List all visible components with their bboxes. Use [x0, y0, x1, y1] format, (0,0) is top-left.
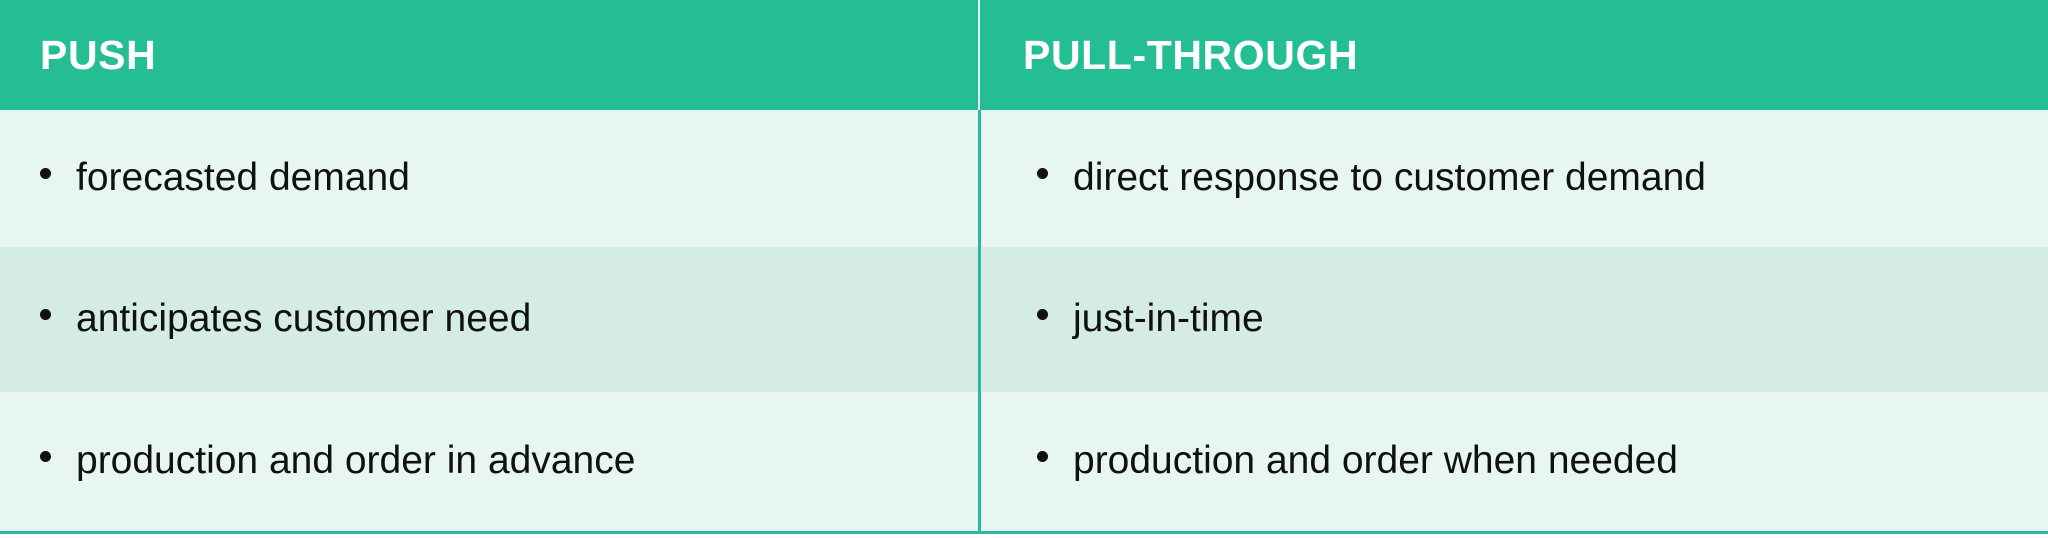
- comparison-table-container: PUSH PULL-THROUGH forecasted demand: [0, 0, 2048, 538]
- bullet-item: production and order in advance: [40, 439, 957, 484]
- cell-push-item-2: anticipates customer need: [0, 247, 977, 392]
- bullet-item-label: production and order in advance: [76, 439, 635, 484]
- cell-push-item-1: forecasted demand: [0, 110, 977, 247]
- bullet-item: anticipates customer need: [40, 297, 957, 342]
- row-column-divider: [977, 392, 981, 531]
- bullet-item-label: anticipates customer need: [76, 297, 531, 342]
- bullet-point-icon: [1037, 168, 1048, 179]
- table-row: production and order in advance producti…: [0, 392, 2048, 531]
- header-column-divider: [977, 0, 981, 110]
- bullet-item-label: forecasted demand: [76, 156, 410, 201]
- bullet-point-icon: [40, 451, 51, 462]
- header-divider-rule: [978, 0, 980, 110]
- row-column-divider: [977, 110, 981, 247]
- cell-pull-through-item-1: direct response to customer demand: [981, 110, 2048, 247]
- column-header-pull-through: PULL-THROUGH: [981, 0, 2048, 110]
- column-header-push: PUSH: [0, 0, 977, 110]
- divider-rule: [978, 110, 981, 247]
- row-column-divider: [977, 247, 981, 392]
- bullet-point-icon: [40, 309, 51, 320]
- bullet-point-icon: [1037, 451, 1048, 462]
- bullet-item: production and order when needed: [1037, 439, 2028, 484]
- cell-pull-through-item-2: just-in-time: [981, 247, 2048, 392]
- cell-push-item-3: production and order in advance: [0, 392, 977, 531]
- cell-pull-through-item-3: production and order when needed: [981, 392, 2048, 531]
- table-row: anticipates customer need just-in-time: [0, 247, 2048, 392]
- table-header: PUSH PULL-THROUGH: [0, 0, 2048, 110]
- table-bottom-border: [0, 531, 2048, 534]
- bullet-item: direct response to customer demand: [1037, 156, 2028, 201]
- push-vs-pull-comparison-table: PUSH PULL-THROUGH forecasted demand: [0, 0, 2048, 531]
- bullet-point-icon: [40, 168, 51, 179]
- bullet-point-icon: [1037, 309, 1048, 320]
- table-row: forecasted demand direct response to cus…: [0, 110, 2048, 247]
- table-body: forecasted demand direct response to cus…: [0, 110, 2048, 531]
- bullet-item-label: just-in-time: [1073, 297, 1264, 342]
- bullet-item: just-in-time: [1037, 297, 2028, 342]
- divider-rule: [978, 247, 981, 392]
- bullet-item: forecasted demand: [40, 156, 957, 201]
- bullet-item-label: direct response to customer demand: [1073, 156, 1706, 201]
- bullet-item-label: production and order when needed: [1073, 439, 1678, 484]
- header-row: PUSH PULL-THROUGH: [0, 0, 2048, 110]
- divider-rule: [978, 392, 981, 531]
